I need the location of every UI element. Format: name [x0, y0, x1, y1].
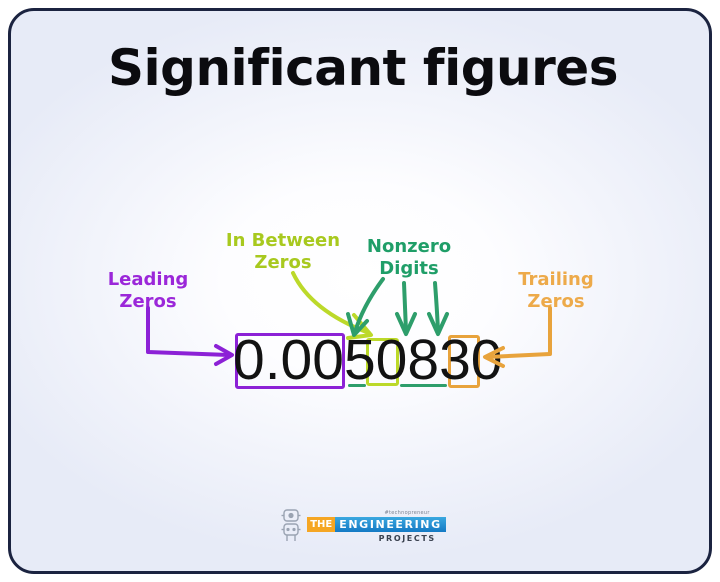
label-nonzero-digits-line2: Digits [379, 258, 438, 279]
leading-zeros-arrow [148, 308, 232, 364]
label-nonzero-digits-line1: Nonzero [367, 236, 451, 257]
label-nonzero-digits: Nonzero Digits [351, 236, 467, 280]
digit-4: 0 [376, 329, 408, 391]
digit-3: 5 [344, 329, 376, 391]
label-in-between-zeros-line1: In Between [226, 230, 340, 251]
nonzero-digit-arrow-8 [397, 283, 415, 334]
brand-bar: THE ENGINEERING [307, 517, 446, 532]
slide-canvas: Significant figures 0 . 0 0 5 0 8 3 0 Le… [8, 8, 712, 574]
digit-7: 0 [471, 329, 503, 391]
label-trailing-zeros-line2: Zeros [527, 291, 584, 312]
digit-decimal-point: . [265, 329, 281, 391]
brand-the: THE [307, 517, 335, 532]
brand-text-block: #technopreneur THE ENGINEERING PROJECTS [307, 510, 446, 543]
label-leading-zeros-line2: Zeros [119, 291, 176, 312]
digit-2: 0 [312, 329, 344, 391]
brand-projects: PROJECTS [379, 534, 436, 543]
label-in-between-zeros: In Between Zeros [209, 230, 357, 274]
label-in-between-zeros-line2: Zeros [254, 252, 311, 273]
digit-6: 3 [439, 329, 471, 391]
digit-5: 8 [407, 329, 439, 391]
digit-1: 0 [281, 329, 313, 391]
nonzero-digit-arrow-3 [429, 283, 447, 334]
digit-0: 0 [233, 329, 265, 391]
label-leading-zeros-line1: Leading [108, 269, 189, 290]
brand-engineering: ENGINEERING [335, 517, 445, 532]
brand-tagline: #technopreneur [385, 510, 430, 516]
label-trailing-zeros: Trailing Zeros [481, 269, 631, 313]
brand-logo: #technopreneur THE ENGINEERING PROJECTS [11, 509, 712, 543]
label-leading-zeros: Leading Zeros [73, 269, 223, 313]
nonzero-underline-83 [400, 384, 447, 387]
nonzero-digit-arrow-5 [348, 279, 383, 335]
significant-figures-number: 0 . 0 0 5 0 8 3 0 [233, 329, 502, 391]
label-trailing-zeros-line1: Trailing [518, 269, 594, 290]
page-title: Significant figures [11, 39, 712, 97]
nonzero-underline-5 [348, 384, 366, 387]
robot-icon [280, 509, 302, 543]
